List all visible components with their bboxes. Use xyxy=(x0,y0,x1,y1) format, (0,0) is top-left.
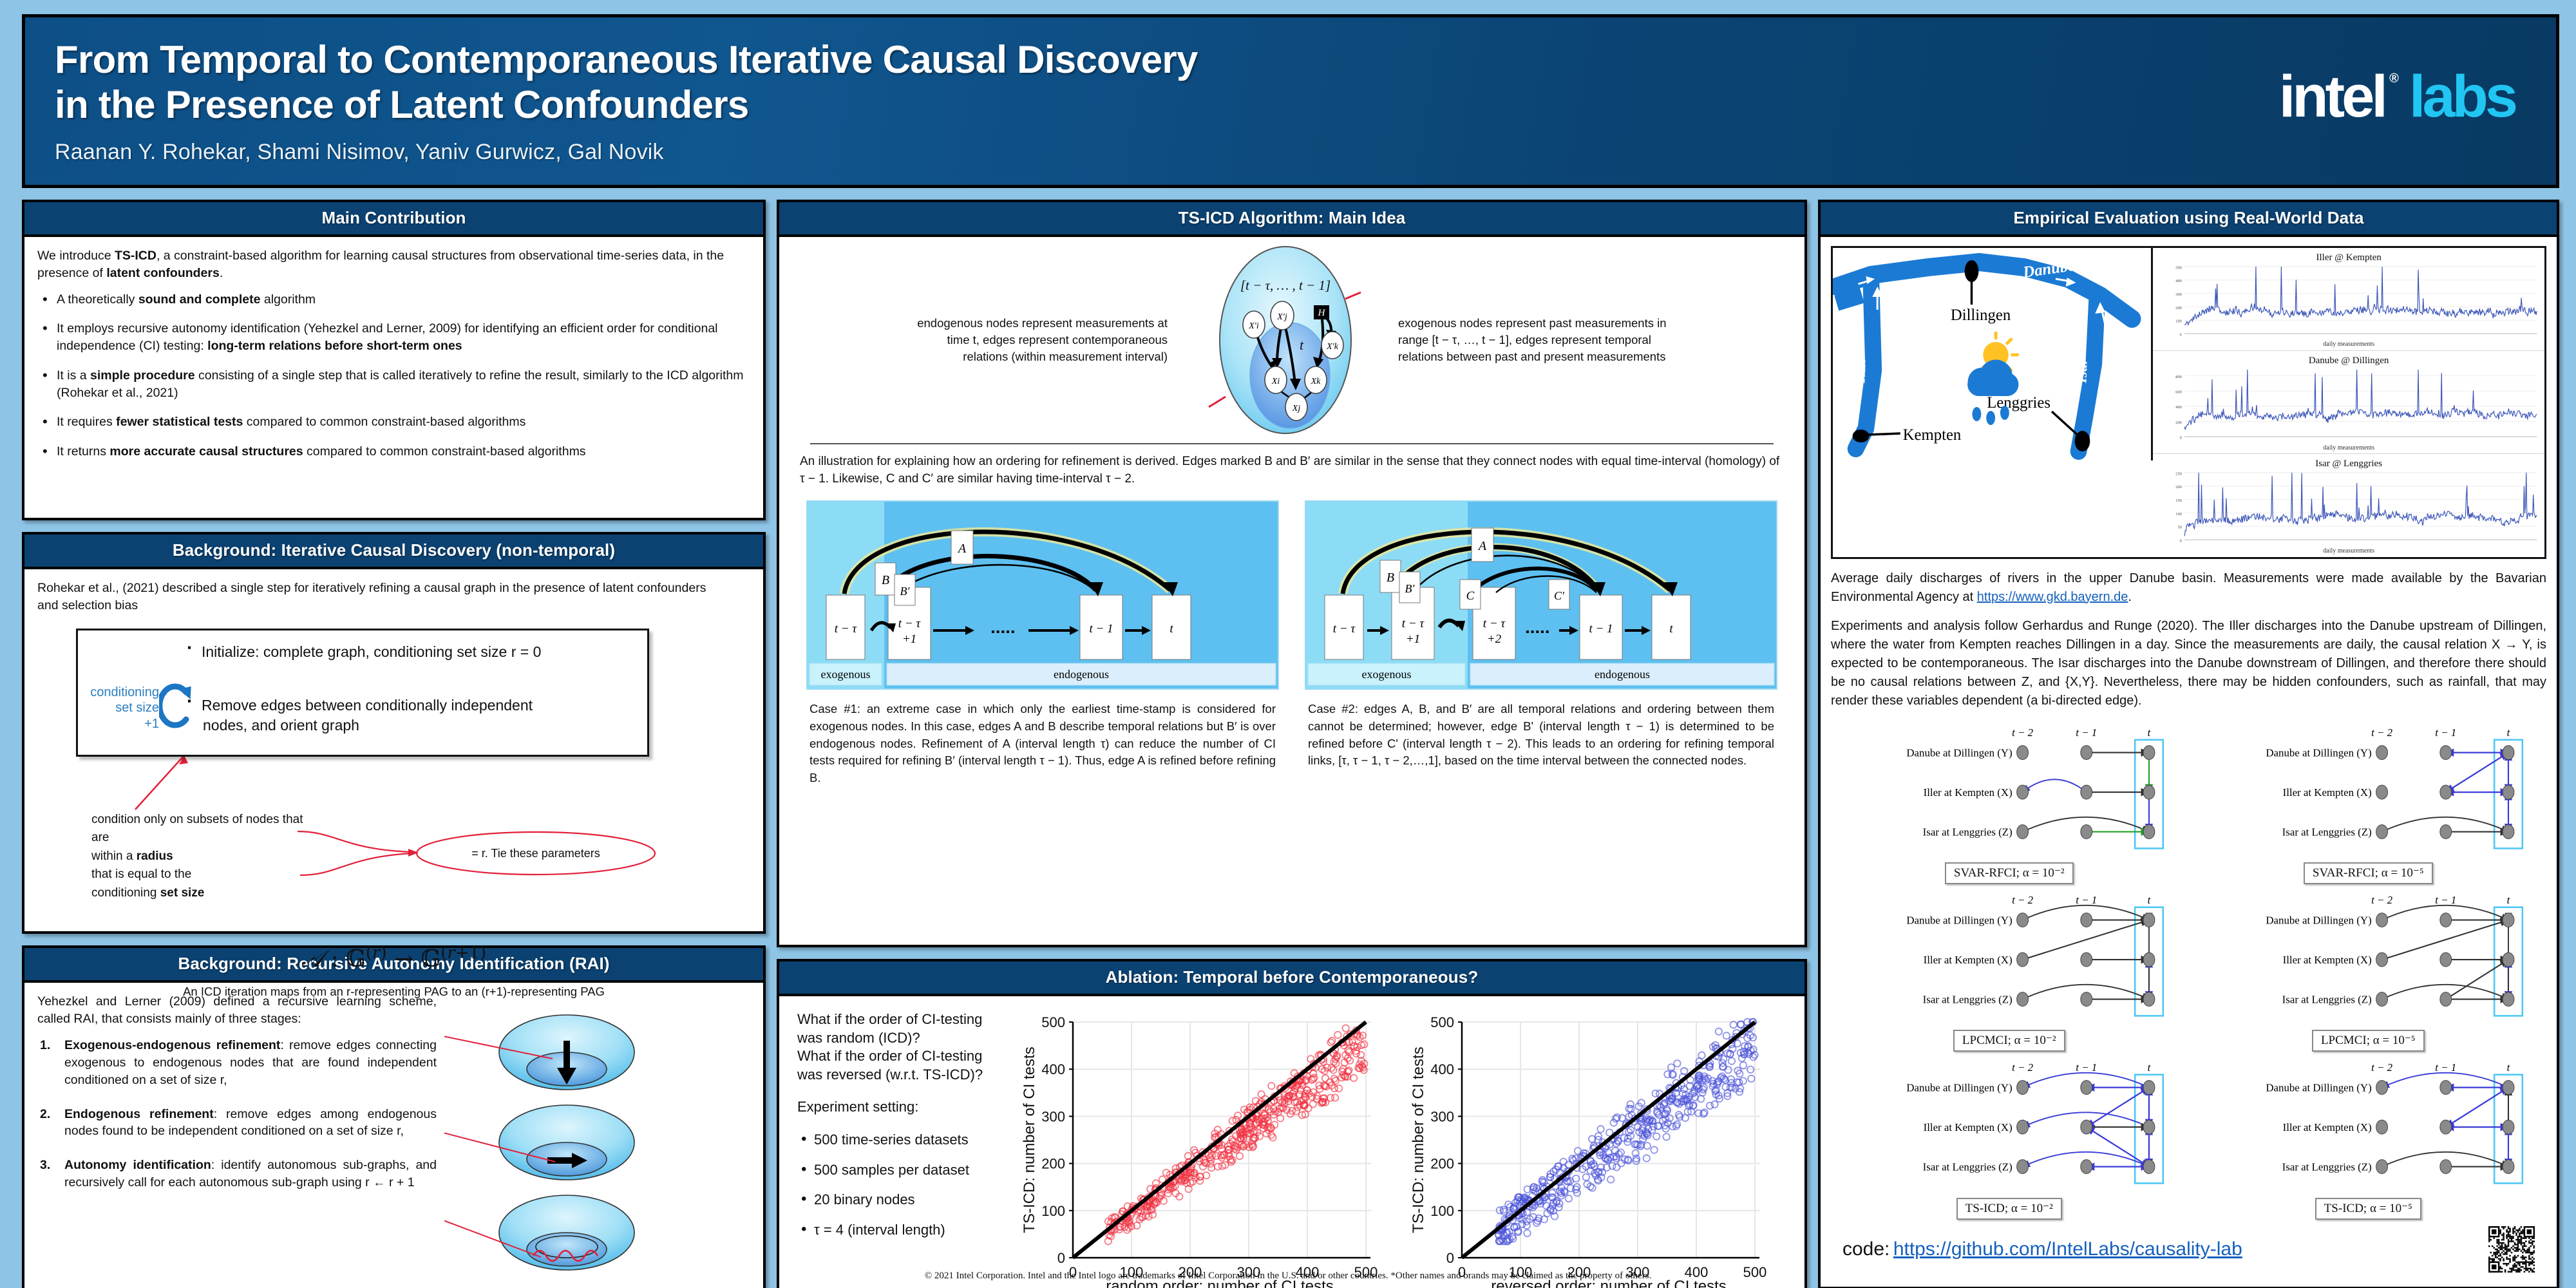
svg-text:C: C xyxy=(1466,589,1475,603)
svg-text:0: 0 xyxy=(1057,1250,1065,1266)
ablation-settings-list: 500 time-series datasets 500 samples per… xyxy=(797,1131,1005,1239)
list-item: 3.Autonomy identification: identify auto… xyxy=(37,1157,437,1191)
qr-code-icon xyxy=(2488,1226,2535,1273)
svg-text:0: 0 xyxy=(2180,436,2182,440)
ablation-setting-label: Experiment setting: xyxy=(797,1098,1005,1117)
river-discharge-timeseries: Iller @ Kempten 0100200300400500 daily m… xyxy=(2153,248,2544,557)
causal-graph-5: t − 2t − 1tDanube at Dillingen (Y)Iller … xyxy=(2190,1054,2547,1219)
middle-column: TS-ICD Algorithm: Main Idea endogenous n… xyxy=(777,200,1807,1288)
svg-text:100: 100 xyxy=(1430,1203,1454,1219)
svg-text:300: 300 xyxy=(2176,292,2183,297)
rai-bowl-figures xyxy=(444,1012,715,1283)
svg-text:Dillingen: Dillingen xyxy=(1951,307,2011,324)
causal-graph-grid: t − 2t − 1tDanube at Dillingen (Y)Iller … xyxy=(1831,719,2546,1220)
river-map-graphic: Danube Iller Isar Dillingen Kempten Leng xyxy=(1833,248,2151,460)
svg-text:50: 50 xyxy=(2178,526,2182,530)
causal-graph-0: t − 2t − 1tDanube at Dillingen (Y)Iller … xyxy=(1831,719,2188,884)
svg-text:t − 1: t − 1 xyxy=(2435,1061,2456,1074)
icd-loop-label: conditioning set size +1 xyxy=(88,685,159,732)
svg-text:t: t xyxy=(2506,1061,2510,1074)
list-item: 1.Exogenous-endogenous refinement: remov… xyxy=(37,1037,437,1089)
svg-text:t − 1: t − 1 xyxy=(1589,622,1613,636)
timeseries-title: Isar @ Lenggries xyxy=(2153,457,2544,471)
causal-graph-3: t − 2t − 1tDanube at Dillingen (Y)Iller … xyxy=(2190,887,2547,1052)
panel-body-tsicd: endogenous nodes represent measurements … xyxy=(779,237,1804,945)
rai-text-column: Yehezkel and Lerner (2009) defined a rec… xyxy=(37,993,437,1283)
svg-text:200: 200 xyxy=(1430,1156,1454,1172)
panel-body-main-contribution: We introduce TS-ICD, a constraint-based … xyxy=(24,237,763,518)
icd-note-line-4: conditioning set size xyxy=(91,884,323,903)
svg-text:Iller at Kempten (X): Iller at Kempten (X) xyxy=(1924,954,2012,966)
svg-text:t − 1: t − 1 xyxy=(2076,726,2097,738)
panel-ablation: Ablation: Temporal before Contemporaneou… xyxy=(777,959,1807,1288)
case-2-text: Case #2: edges A, B, and B′ are all temp… xyxy=(1303,692,1779,771)
graph-caption: SVAR-RFCI; α = 10⁻² xyxy=(1945,862,2074,884)
evaluation-paragraph-2: Experiments and analysis follow Gerhardu… xyxy=(1831,617,2546,710)
scatter-chart-reversed-order: 01002003004005000100200300400500 reverse… xyxy=(1404,1000,1784,1288)
svg-text:Danube at Dillingen (Y): Danube at Dillingen (Y) xyxy=(1906,746,2012,759)
svg-text:Isar at Lenggries (Z): Isar at Lenggries (Z) xyxy=(2282,1161,2371,1173)
panel-tsicd-main-idea: TS-ICD Algorithm: Main Idea endogenous n… xyxy=(777,200,1807,947)
svg-text:C′: C′ xyxy=(1554,589,1565,602)
case-1-diagram: exogenous endogenous t − τ t − τ +1 t − … xyxy=(804,498,1281,692)
poster-title-line-2: in the Presence of Latent Confounders xyxy=(55,82,2279,128)
svg-text:200: 200 xyxy=(2176,486,2183,490)
svg-text:t: t xyxy=(2148,894,2152,906)
causal-graph-svg: t − 2t − 1tDanube at Dillingen (Y)Iller … xyxy=(2190,719,2547,861)
causal-graph-svg: t − 2t − 1tDanube at Dillingen (Y)Iller … xyxy=(1831,1054,2188,1196)
left-column: Main Contribution We introduce TS-ICD, a… xyxy=(22,200,766,1288)
svg-text:400: 400 xyxy=(1430,1061,1454,1077)
svg-text:Isar: Isar xyxy=(2074,357,2090,384)
panel-body-ablation: What if the order of CI-testing was rand… xyxy=(779,996,1804,1288)
svg-text:Lenggries: Lenggries xyxy=(1987,394,2050,412)
svg-text:100: 100 xyxy=(2176,512,2183,516)
svg-text:Xi: Xi xyxy=(1271,377,1280,386)
panel-main-contribution: Main Contribution We introduce TS-ICD, a… xyxy=(22,200,766,520)
svg-text:t: t xyxy=(2148,726,2152,738)
code-label: code: xyxy=(1842,1238,1889,1260)
panel-body-background-rai: Yehezkel and Lerner (2009) defined a rec… xyxy=(24,983,763,1288)
svg-text:+2: +2 xyxy=(1487,632,1502,646)
panel-heading-tsicd: TS-ICD Algorithm: Main Idea xyxy=(779,202,1804,237)
list-item: 2.Endogenous refinement: remove edges am… xyxy=(37,1106,437,1141)
svg-text:800: 800 xyxy=(2176,375,2183,379)
svg-text:200: 200 xyxy=(1041,1156,1065,1172)
timeseries-xlabel: daily measurements xyxy=(2153,547,2544,556)
svg-text:t: t xyxy=(1300,337,1304,353)
panel-heading-main-contribution: Main Contribution xyxy=(24,202,763,237)
svg-text:t − τ: t − τ xyxy=(835,622,858,636)
registered-trademark-icon: ® xyxy=(2389,72,2399,85)
svg-text:Isar at Lenggries (Z): Isar at Lenggries (Z) xyxy=(1923,1161,2012,1173)
icd-radius-note: condition only on subsets of nodes that … xyxy=(91,811,723,903)
svg-text:300: 300 xyxy=(1430,1108,1454,1124)
svg-text:500: 500 xyxy=(1430,1014,1454,1030)
svg-text:A: A xyxy=(957,542,967,556)
svg-text:Danube at Dillingen (Y): Danube at Dillingen (Y) xyxy=(1906,1082,2012,1094)
svg-text:t − 1: t − 1 xyxy=(2076,894,2097,906)
svg-text:t: t xyxy=(1170,622,1173,636)
svg-text:t: t xyxy=(1669,622,1673,636)
causal-graph-4: t − 2t − 1tDanube at Dillingen (Y)Iller … xyxy=(1831,1054,2188,1219)
svg-text:0: 0 xyxy=(1446,1250,1454,1266)
loop-arrow-icon xyxy=(159,681,195,731)
svg-text:200: 200 xyxy=(2176,421,2183,425)
svg-text:t − τ: t − τ xyxy=(1333,622,1356,636)
list-item: A theoretically sound and complete algor… xyxy=(37,291,750,308)
icd-flow-diagram: Initialize: complete graph, conditioning… xyxy=(76,629,649,815)
svg-text:Iller at Kempten (X): Iller at Kempten (X) xyxy=(2282,954,2371,966)
svg-text:t − 1: t − 1 xyxy=(2076,1061,2097,1074)
scatter-2-ylabel: TS-ICD: number of CI tests xyxy=(1410,1046,1427,1233)
svg-text:t − τ: t − τ xyxy=(898,617,922,630)
svg-text:t − 2: t − 2 xyxy=(2012,1061,2033,1074)
svg-text:t − 2: t − 2 xyxy=(2371,894,2392,906)
scatter-1-ylabel: TS-ICD: number of CI tests xyxy=(1021,1046,1038,1233)
svg-text:t: t xyxy=(2506,894,2510,906)
causal-graph-svg: t − 2t − 1tDanube at Dillingen (Y)Iller … xyxy=(2190,887,2547,1028)
svg-text:150: 150 xyxy=(2176,498,2183,503)
tsicd-note-exogenous: exogenous nodes represent past measureme… xyxy=(1392,315,1675,366)
svg-text:300: 300 xyxy=(1041,1108,1065,1124)
list-item: 500 samples per dataset xyxy=(797,1161,1005,1180)
svg-text:t − 2: t − 2 xyxy=(2012,894,2033,906)
icd-note-line-1: condition only on subsets of nodes that … xyxy=(91,811,323,848)
list-item: It is a simple procedure consisting of a… xyxy=(37,367,750,402)
ablation-scatter-charts: 01002003004005000100200300400500 random … xyxy=(1015,1000,1794,1288)
svg-text:Iller at Kempten (X): Iller at Kempten (X) xyxy=(2282,1121,2371,1133)
tsicd-note-endogenous: endogenous nodes represent measurements … xyxy=(909,315,1179,366)
list-item: τ = 4 (interval length) xyxy=(797,1221,1005,1240)
icd-note-line-2: within a radius xyxy=(91,848,323,866)
svg-text:exogenous: exogenous xyxy=(1362,668,1412,681)
svg-text:250: 250 xyxy=(2176,472,2183,477)
tsicd-explanation: An illustration for explaining how an or… xyxy=(793,453,1790,498)
causal-graph-svg: t − 2t − 1tDanube at Dillingen (Y)Iller … xyxy=(1831,887,2188,1028)
svg-text:Danube at Dillingen (Y): Danube at Dillingen (Y) xyxy=(1906,914,2012,926)
list-item: It requires fewer statistical tests comp… xyxy=(37,413,750,431)
svg-text:Isar at Lenggries (Z): Isar at Lenggries (Z) xyxy=(2282,993,2371,1005)
panel-background-icd: Background: Iterative Causal Discovery (… xyxy=(22,532,766,934)
causal-graph-svg: t − 2t − 1tDanube at Dillingen (Y)Iller … xyxy=(1831,719,2188,861)
svg-text:t − 1: t − 1 xyxy=(2435,894,2456,906)
svg-text:400: 400 xyxy=(2176,279,2183,283)
poster-title-line-1: From Temporal to Contemporaneous Iterati… xyxy=(55,37,2279,82)
poster-root: From Temporal to Contemporaneous Iterati… xyxy=(0,0,2576,1288)
svg-text:100: 100 xyxy=(2176,319,2183,324)
icd-formula: 𝒜 : 𝔾(r) → 𝔾(r+1) xyxy=(37,942,750,976)
svg-text:t − 1: t − 1 xyxy=(2435,726,2456,738)
timeseries-title: Iller @ Kempten xyxy=(2153,251,2544,265)
svg-text:exogenous: exogenous xyxy=(821,668,871,681)
svg-text:Iller at Kempten (X): Iller at Kempten (X) xyxy=(1924,786,2012,799)
case-2-diagram: exogenous endogenous t − τ t − τ +1 t − … xyxy=(1303,498,1779,692)
github-repo-link[interactable]: https://github.com/IntelLabs/causality-l… xyxy=(1893,1238,2242,1260)
svg-text:Xk: Xk xyxy=(1311,377,1321,386)
rai-figure-column xyxy=(444,993,715,1283)
right-column: Empirical Evaluation using Real-World Da… xyxy=(1818,200,2559,1288)
main-contribution-intro: We introduce TS-ICD, a constraint-based … xyxy=(37,247,750,282)
case-1-column: exogenous endogenous t − τ t − τ +1 t − … xyxy=(804,498,1281,788)
svg-text:endogenous: endogenous xyxy=(1595,668,1650,681)
timeseries-danube-dillingen: Danube @ Dillingen 0200400600800 daily m… xyxy=(2153,351,2544,454)
panel-heading-ablation: Ablation: Temporal before Contemporaneou… xyxy=(779,961,1804,996)
poster-authors: Raanan Y. Rohekar, Shami Nisimov, Yaniv … xyxy=(55,140,2279,165)
panel-heading-background-icd: Background: Iterative Causal Discovery (… xyxy=(24,535,763,569)
svg-text:t: t xyxy=(2506,726,2510,738)
svg-text:Kempten: Kempten xyxy=(1903,426,1962,444)
panel-body-evaluation: Danube Iller Isar Dillingen Kempten Leng xyxy=(1821,237,2557,1287)
svg-text:100: 100 xyxy=(1041,1203,1065,1219)
evaluation-figure-row: Danube Iller Isar Dillingen Kempten Leng xyxy=(1831,246,2546,559)
tsicd-nested-sets-diagram: [t − τ, … , t − 1] t xyxy=(1179,243,1392,437)
icd-tie-ellipse: = r. Tie these parameters xyxy=(298,820,697,887)
causal-graph-2: t − 2t − 1tDanube at Dillingen (Y)Iller … xyxy=(1831,887,2188,1052)
timeseries-iller-kempten: Iller @ Kempten 0100200300400500 daily m… xyxy=(2153,248,2544,351)
svg-text:▪▪▪▪▪: ▪▪▪▪▪ xyxy=(1526,627,1550,638)
section-divider xyxy=(810,443,1774,444)
svg-text:X′j: X′j xyxy=(1276,312,1287,322)
graph-caption: TS-ICD; α = 10⁻² xyxy=(1956,1198,2062,1220)
svg-text:X′k: X′k xyxy=(1326,342,1339,352)
graph-caption: LPCMCI; α = 10⁻⁵ xyxy=(2312,1030,2425,1052)
timeseries-title: Danube @ Dillingen xyxy=(2153,354,2544,368)
timeseries-xlabel: daily measurements xyxy=(2153,444,2544,453)
tsicd-case-diagrams: exogenous endogenous t − τ t − τ +1 t − … xyxy=(793,498,1790,788)
svg-text:Danube at Dillingen (Y): Danube at Dillingen (Y) xyxy=(2266,914,2371,926)
graph-caption: SVAR-RFCI; α = 10⁻⁵ xyxy=(2304,862,2433,884)
svg-text:X′i: X′i xyxy=(1248,321,1259,331)
svg-text:endogenous: endogenous xyxy=(1054,668,1109,681)
svg-text:▪▪▪▪▪: ▪▪▪▪▪ xyxy=(991,627,1016,638)
svg-text:Isar at Lenggries (Z): Isar at Lenggries (Z) xyxy=(1923,826,2012,838)
svg-text:Isar at Lenggries (Z): Isar at Lenggries (Z) xyxy=(1923,993,2012,1005)
list-item: It returns more accurate causal structur… xyxy=(37,443,750,460)
svg-text:B: B xyxy=(882,573,889,587)
icd-flow-box: Initialize: complete graph, conditioning… xyxy=(76,629,649,757)
causal-graph-1: t − 2t − 1tDanube at Dillingen (Y)Iller … xyxy=(2190,719,2547,884)
svg-text:B: B xyxy=(1387,571,1394,585)
main-contribution-bullets: A theoretically sound and complete algor… xyxy=(37,291,750,460)
svg-text:Danube at Dillingen (Y): Danube at Dillingen (Y) xyxy=(2266,1082,2371,1094)
list-item: It employs recursive autonomy identifica… xyxy=(37,320,750,355)
svg-text:+1: +1 xyxy=(1406,632,1420,646)
svg-text:500: 500 xyxy=(1041,1014,1065,1030)
svg-text:t − 1: t − 1 xyxy=(1089,622,1113,636)
scatter-chart-random-order: 01002003004005000100200300400500 random … xyxy=(1015,1000,1395,1288)
panel-empirical-evaluation: Empirical Evaluation using Real-World Da… xyxy=(1818,200,2559,1288)
poster-footer: © 2021 Intel Corporation. Intel and the … xyxy=(0,1271,2576,1282)
gkd-bayern-link[interactable]: https://www.gkd.bayern.de xyxy=(1977,590,2128,604)
ablation-question-text: What if the order of CI-testing was rand… xyxy=(790,1000,1009,1288)
icd-step-remove-edges: Remove edges between conditionally indep… xyxy=(187,696,636,735)
evaluation-paragraph-1: Average daily discharges of rivers in th… xyxy=(1831,569,2546,607)
code-link-row: code: https://github.com/IntelLabs/causa… xyxy=(1831,1220,2546,1276)
labs-wordmark: labs xyxy=(2409,67,2515,126)
danube-basin-map: Danube Iller Isar Dillingen Kempten Leng xyxy=(1833,248,2153,460)
case-1-text: Case #1: an extreme case in which only t… xyxy=(804,692,1281,788)
panel-heading-evaluation: Empirical Evaluation using Real-World Da… xyxy=(1821,202,2557,237)
list-item: 20 binary nodes xyxy=(797,1191,1005,1209)
svg-text:t − τ: t − τ xyxy=(1483,617,1506,630)
svg-text:400: 400 xyxy=(1041,1061,1065,1077)
poster-title-bar: From Temporal to Contemporaneous Iterati… xyxy=(22,14,2559,188)
svg-text:0: 0 xyxy=(2180,333,2182,337)
svg-text:= r. Tie these parameters: = r. Tie these parameters xyxy=(471,847,600,860)
svg-text:600: 600 xyxy=(2176,390,2183,395)
timeseries-isar-lenggries: Isar @ Lenggries 050100150200250 daily m… xyxy=(2153,454,2544,556)
svg-text:Xj: Xj xyxy=(1292,404,1301,413)
rai-stage-list: 1.Exogenous-endogenous refinement: remov… xyxy=(37,1037,437,1191)
svg-text:Iller at Kempten (X): Iller at Kempten (X) xyxy=(1924,1121,2012,1133)
svg-text:H: H xyxy=(1318,308,1326,318)
timeseries-xlabel: daily measurements xyxy=(2153,340,2544,349)
svg-text:Danube at Dillingen (Y): Danube at Dillingen (Y) xyxy=(2266,746,2371,759)
svg-text:Iller: Iller xyxy=(1852,355,1869,384)
svg-text:0: 0 xyxy=(2180,539,2182,544)
list-item: 500 time-series datasets xyxy=(797,1131,1005,1150)
causal-graph-svg: t − 2t − 1tDanube at Dillingen (Y)Iller … xyxy=(2190,1054,2547,1196)
tsicd-idea-figure-row: endogenous nodes represent measurements … xyxy=(793,243,1790,437)
svg-text:400: 400 xyxy=(2176,405,2183,410)
icd-red-pointer xyxy=(76,753,649,815)
svg-text:+1: +1 xyxy=(902,632,916,646)
svg-text:Iller at Kempten (X): Iller at Kempten (X) xyxy=(2282,786,2371,799)
graph-caption: LPCMCI; α = 10⁻² xyxy=(1953,1030,2065,1052)
svg-text:B′: B′ xyxy=(900,585,911,598)
svg-text:[t − τ, … , t − 1]: [t − τ, … , t − 1] xyxy=(1240,278,1331,293)
ablation-questions: What if the order of CI-testing was rand… xyxy=(797,1010,1005,1084)
svg-text:B′: B′ xyxy=(1405,582,1416,595)
icd-note-line-3: that is equal to the xyxy=(91,866,323,884)
svg-text:t − 2: t − 2 xyxy=(2371,1061,2392,1074)
graph-caption: TS-ICD; α = 10⁻⁵ xyxy=(2315,1198,2421,1220)
case-2-column: exogenous endogenous t − τ t − τ +1 t − … xyxy=(1303,498,1779,788)
icd-step-initialize: Initialize: complete graph, conditioning… xyxy=(187,642,636,662)
title-text-block: From Temporal to Contemporaneous Iterati… xyxy=(25,37,2279,165)
panel-body-background-icd: Rohekar et al., (2021) described a singl… xyxy=(24,569,763,931)
svg-text:200: 200 xyxy=(2176,306,2183,310)
background-icd-intro: Rohekar et al., (2021) described a singl… xyxy=(37,580,714,614)
intel-labs-logo: intel® labs xyxy=(2279,67,2556,126)
svg-text:t − 2: t − 2 xyxy=(2012,726,2033,738)
svg-text:500: 500 xyxy=(2176,265,2183,270)
svg-text:A: A xyxy=(1477,539,1487,553)
svg-text:t − 2: t − 2 xyxy=(2371,726,2392,738)
svg-text:t: t xyxy=(2148,1061,2152,1074)
intel-wordmark: intel® xyxy=(2279,67,2385,126)
svg-text:Isar at Lenggries (Z): Isar at Lenggries (Z) xyxy=(2282,826,2371,838)
svg-text:t − τ: t − τ xyxy=(1402,617,1425,630)
